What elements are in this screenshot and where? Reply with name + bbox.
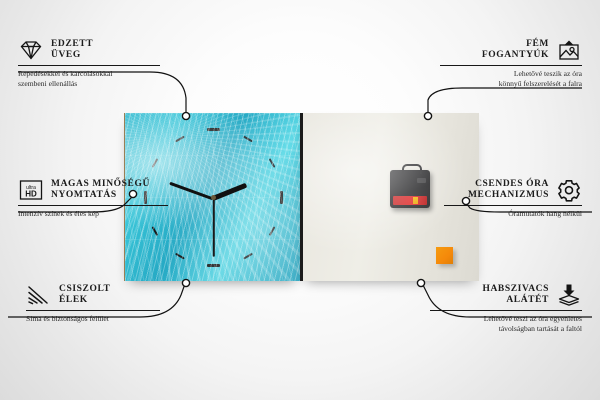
callout-title-line1: HABSZIVACS (482, 284, 549, 296)
product-image (124, 113, 476, 281)
callout-desc-line1: Lehetővé teszik az óra (440, 69, 582, 79)
mechanism-red-label (393, 196, 427, 205)
callout-desc-line2: könnyű felszerelését a falra (440, 79, 582, 89)
clock-hour-hand (212, 183, 247, 201)
callout-title-line2: MECHANIZMUS (468, 190, 549, 202)
clock-hour-mark (175, 253, 185, 260)
clock-hour-mark (207, 264, 220, 267)
clock-mechanism-part (390, 170, 430, 208)
callout-title-line1: EDZETT (51, 39, 93, 51)
callout-foam-pad: HABSZIVACS ALÁTÉT Lehetővé teszi az óra … (430, 283, 582, 333)
callout-title-line2: ALÁTÉT (482, 295, 549, 307)
clock-hour-mark (207, 128, 220, 131)
clock-hour-mark (269, 227, 276, 237)
callout-title-line1: MAGAS MINŐSÉGŰ (51, 179, 150, 191)
callout-title-line1: CSISZOLT (59, 284, 110, 296)
callout-high-quality-print: ultra HD MAGAS MINŐSÉGŰ NYOMTATÁS Intenz… (18, 178, 168, 219)
callout-silent-mechanism: CSENDES ÓRA MECHANIZMUS Óramutatók hang … (444, 178, 582, 219)
callout-desc-line1: Intenzív színek és éles kép (18, 209, 168, 219)
mechanism-handle (402, 164, 422, 174)
clock-hour-mark (243, 135, 253, 142)
callout-rule (440, 65, 582, 66)
callout-desc-line1: Repedésekkel és karcolásokkal (18, 69, 160, 79)
callout-rule (26, 310, 160, 311)
clock-hour-mark (243, 253, 253, 260)
svg-text:HD: HD (25, 190, 37, 199)
diamond-icon (18, 38, 44, 62)
callout-tempered-glass: EDZETT ÜVEG Repedésekkel és karcolásokka… (18, 38, 160, 88)
callout-title-line2: NYOMTATÁS (51, 190, 150, 202)
callout-rule (430, 310, 582, 311)
clock-hour-mark (151, 227, 158, 237)
product-feature-infographic: EDZETT ÜVEG Repedésekkel és karcolásokka… (0, 0, 600, 400)
gear-icon (556, 178, 582, 202)
callout-desc-line1: Óramutatók hang nélkül (444, 209, 582, 219)
callout-rule (444, 205, 582, 206)
callout-rule (18, 65, 160, 66)
clock-hour-mark (280, 191, 283, 204)
callout-title-line2: ÜVEG (51, 50, 93, 62)
callout-rule (18, 205, 168, 206)
picture-hanger-icon (556, 38, 582, 62)
ultra-hd-icon: ultra HD (18, 178, 44, 202)
callout-title-line1: FÉM (482, 39, 549, 51)
clock-center-cap (211, 195, 216, 200)
foam-pad-part (436, 247, 453, 264)
mechanism-battery-slot (417, 178, 426, 183)
callout-title-line1: CSENDES ÓRA (468, 179, 549, 191)
clock-second-hand (213, 198, 215, 256)
callout-metal-handles: FÉM FOGANTYÚK Lehetővé teszik az óra kön… (440, 38, 582, 88)
callout-desc-line2: szembeni ellenállás (18, 79, 160, 89)
clock-hour-mark (269, 159, 276, 169)
callout-title-line2: ÉLEK (59, 295, 110, 307)
callout-polished-edges: CSISZOLT ÉLEK Sima és biztonságos felüle… (26, 283, 160, 324)
foam-pad-icon (556, 283, 582, 307)
clock-minute-hand (169, 181, 213, 200)
callout-desc-line2: távolságban tartását a faltól (430, 324, 582, 334)
clock-hour-mark (175, 135, 185, 142)
callout-desc-line1: Sima és biztonságos felület (26, 314, 160, 324)
clock-hour-mark (151, 159, 158, 169)
callout-desc-line1: Lehetővé teszi az óra egyenletes (430, 314, 582, 324)
polished-edges-icon (26, 283, 52, 307)
callout-title-line2: FOGANTYÚK (482, 50, 549, 62)
